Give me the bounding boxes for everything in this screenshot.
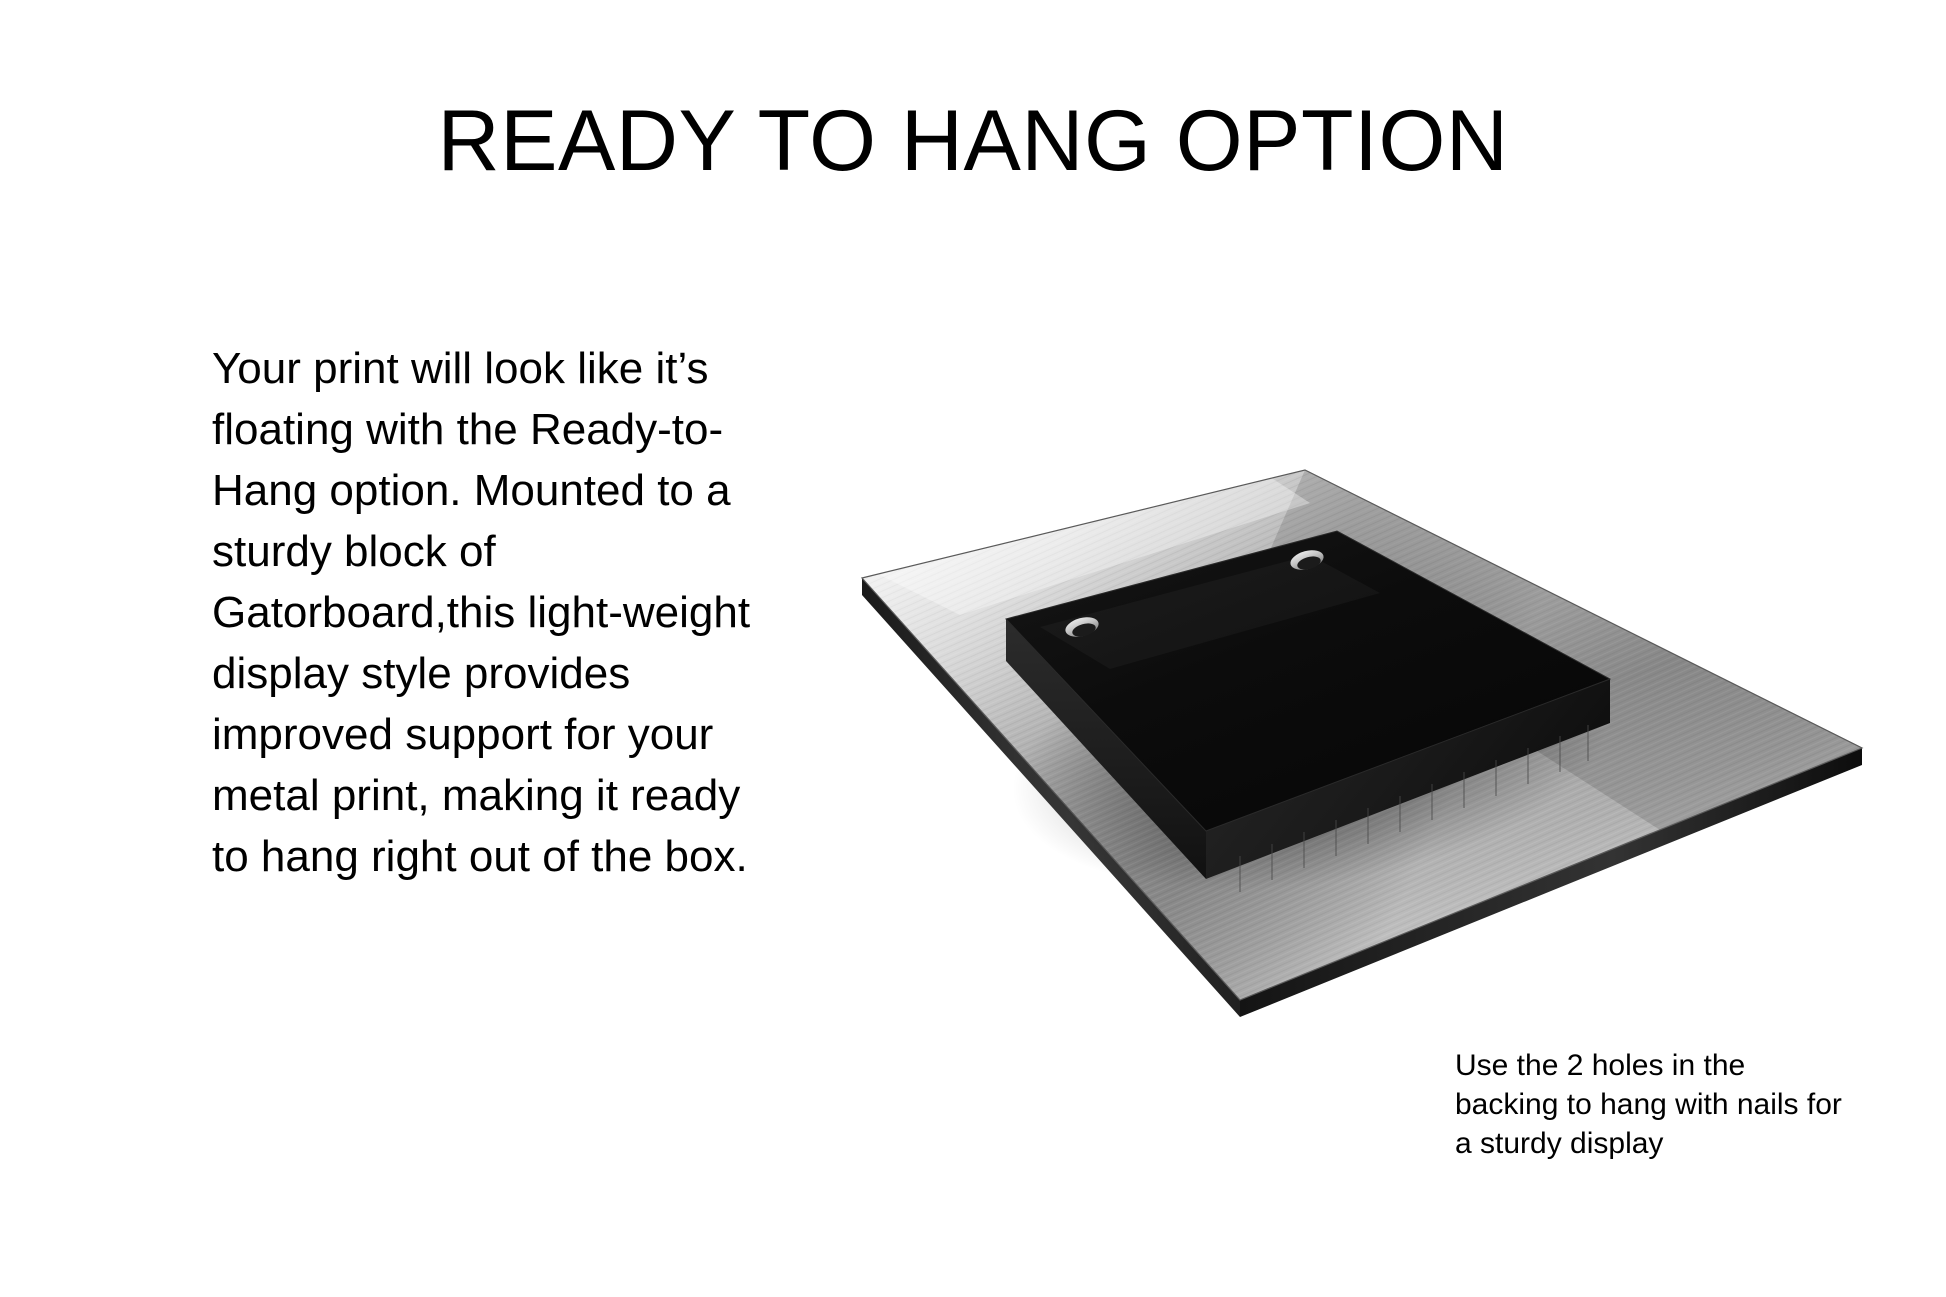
page-title: READY TO HANG OPTION: [0, 96, 1946, 186]
product-illustration-svg: [840, 455, 1900, 1035]
product-caption: Use the 2 holes in the backing to hang w…: [1455, 1046, 1855, 1163]
product-illustration: [840, 455, 1900, 1035]
body-paragraph: Your print will look like it’s floating …: [212, 338, 772, 887]
slide-canvas: READY TO HANG OPTION Your print will loo…: [0, 0, 1946, 1297]
